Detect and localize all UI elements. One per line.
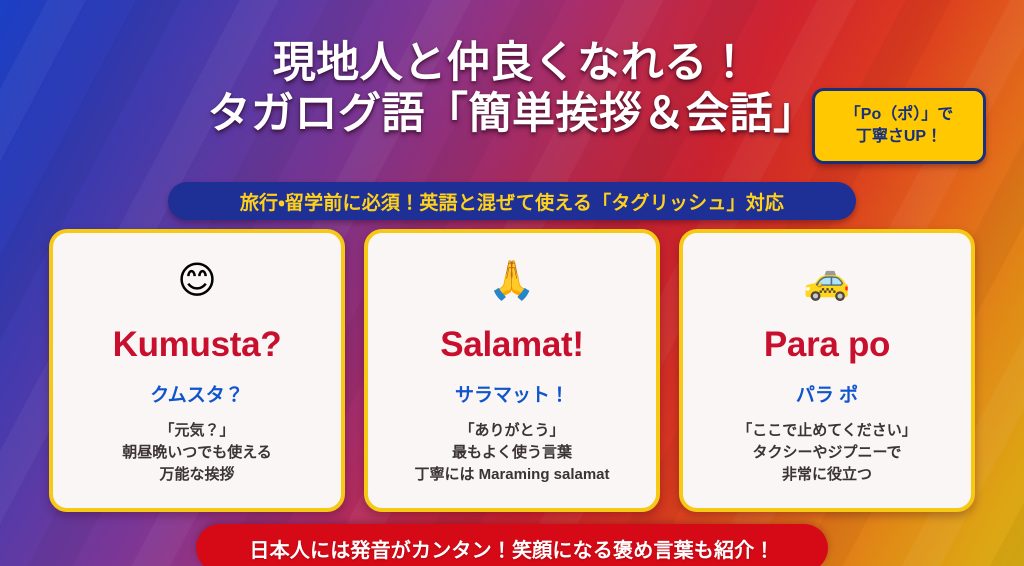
phrase-card-kumusta: 😊 Kumusta? クムスタ？ 「元気？」 朝昼晩いつでも使える 万能な挨拶 [49, 229, 345, 512]
poster-canvas: 現地人と仲良くなれる！ タガログ語「簡単挨拶＆会話」 「Po（ポ）」で 丁寧さU… [0, 0, 1024, 566]
phrase-word: Para po [764, 327, 890, 364]
phrase-description: 「ここで止めてください」 タクシーやジプニーで 非常に役立つ [737, 420, 917, 487]
po-politeness-badge: 「Po（ポ）」で 丁寧さUP！ [812, 88, 986, 164]
phrase-description-line: 「ありがとう」 [414, 420, 609, 442]
phrase-description-line: 「元気？」 [122, 420, 272, 442]
taxi-icon: 🚕 [803, 259, 850, 303]
title-line-1: 現地人と仲良くなれる！ [0, 38, 1024, 89]
phrase-description-line: 最もよく使う言葉 [414, 442, 609, 464]
phrase-description-line: 「ここで止めてください」 [737, 420, 917, 442]
smiling-face-with-smiling-eyes-icon: 😊 [177, 259, 217, 303]
bottom-banner: 日本人には発音がカンタン！笑顔になる褒め言葉も紹介！ [196, 524, 828, 566]
badge-line-1: 「Po（ポ）」で [845, 105, 953, 125]
subtitle-text: 旅行・留学前に必須！英語と混ぜて使える「タグリッシュ」対応 [240, 188, 784, 215]
phrase-kana: サラマット！ [455, 380, 569, 407]
bottom-banner-text: 日本人には発音がカンタン！笑顔になる褒め言葉も紹介！ [249, 534, 774, 563]
phrase-card-salamat: 🙏 Salamat! サラマット！ 「ありがとう」 最もよく使う言葉 丁寧には … [364, 229, 660, 512]
subtitle-pill: 旅行・留学前に必須！英語と混ぜて使える「タグリッシュ」対応 [168, 182, 856, 220]
phrase-card-para-po: 🚕 Para po パラ ポ 「ここで止めてください」 タクシーやジプニーで 非… [679, 229, 975, 512]
phrase-description-line: 万能な挨拶 [122, 464, 272, 486]
phrase-description-line: 丁寧には Maraming salamat [414, 464, 609, 486]
phrase-word: Kumusta? [113, 327, 282, 364]
phrase-card-list: 😊 Kumusta? クムスタ？ 「元気？」 朝昼晩いつでも使える 万能な挨拶 … [49, 229, 975, 512]
folded-hands-icon: 🙏 [488, 259, 535, 303]
phrase-kana: パラ ポ [796, 380, 858, 407]
phrase-description-line: タクシーやジプニーで [737, 442, 917, 464]
phrase-word: Salamat! [440, 327, 584, 364]
phrase-description-line: 朝昼晩いつでも使える [122, 442, 272, 464]
badge-line-2: 丁寧さUP！ [856, 127, 942, 147]
phrase-kana: クムスタ？ [150, 380, 243, 407]
phrase-description: 「ありがとう」 最もよく使う言葉 丁寧には Maraming salamat [414, 420, 609, 487]
phrase-description-line: 非常に役立つ [737, 464, 917, 486]
phrase-description: 「元気？」 朝昼晩いつでも使える 万能な挨拶 [122, 420, 272, 487]
